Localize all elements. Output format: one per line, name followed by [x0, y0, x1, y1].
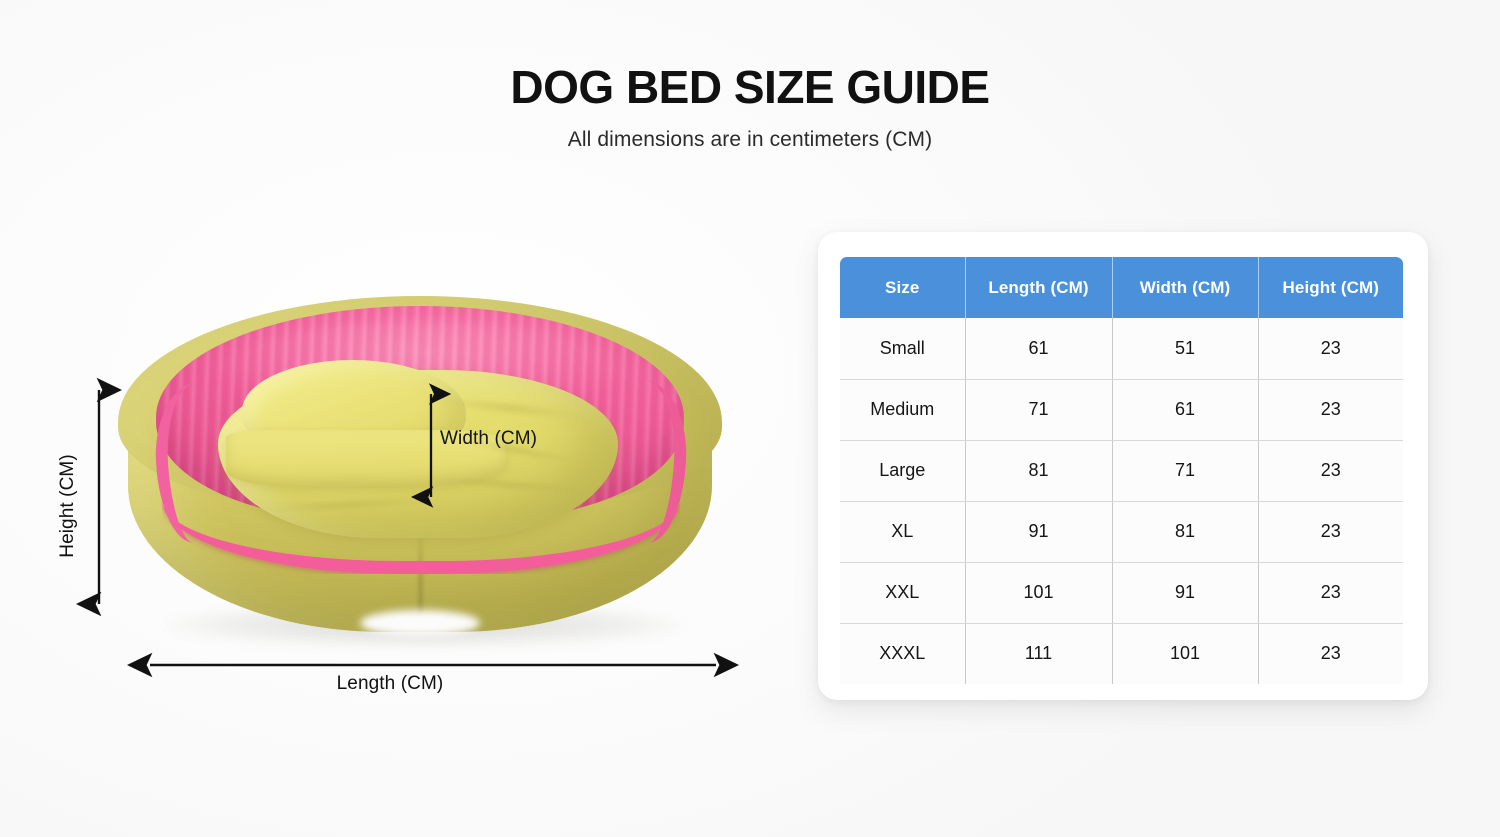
table-row: XL 91 81 23 — [840, 501, 1403, 562]
height-dimension-label: Height (CM) — [57, 454, 79, 558]
bed-bottom-notch — [360, 610, 480, 636]
page-header: DOG BED SIZE GUIDE All dimensions are in… — [0, 62, 1500, 152]
cell-width: 51 — [1112, 318, 1258, 379]
cell-width: 91 — [1112, 562, 1258, 623]
width-dimension-arrow — [424, 383, 438, 508]
cell-size: XXL — [840, 562, 965, 623]
column-header-length: Length (CM) — [965, 257, 1112, 318]
cell-height: 23 — [1258, 379, 1403, 440]
cell-height: 23 — [1258, 562, 1403, 623]
table-row: Large 81 71 23 — [840, 440, 1403, 501]
cell-height: 23 — [1258, 501, 1403, 562]
cell-length: 61 — [965, 318, 1112, 379]
table-header-row: Size Length (CM) Width (CM) Height (CM) — [840, 257, 1403, 318]
cell-size: Medium — [840, 379, 965, 440]
cushion-crease — [258, 496, 442, 513]
length-dimension-label: Length (CM) — [40, 673, 740, 695]
cell-size: XXXL — [840, 623, 965, 684]
column-header-height: Height (CM) — [1258, 257, 1403, 318]
table-row: Medium 71 61 23 — [840, 379, 1403, 440]
cell-width: 81 — [1112, 501, 1258, 562]
column-header-width: Width (CM) — [1112, 257, 1258, 318]
cell-size: Small — [840, 318, 965, 379]
cell-width: 71 — [1112, 440, 1258, 501]
size-table: Size Length (CM) Width (CM) Height (CM) … — [840, 257, 1403, 684]
size-table-body: Small 61 51 23 Medium 71 61 23 Large 81 … — [840, 318, 1403, 684]
cell-length: 111 — [965, 623, 1112, 684]
size-table-card: Size Length (CM) Width (CM) Height (CM) … — [818, 232, 1428, 700]
cell-width: 101 — [1112, 623, 1258, 684]
height-dimension-arrow — [92, 378, 106, 616]
cell-length: 71 — [965, 379, 1112, 440]
product-diagram: Height (CM) Length (CM) Width (CM) — [40, 250, 780, 720]
table-row: XXXL 111 101 23 — [840, 623, 1403, 684]
cell-width: 61 — [1112, 379, 1258, 440]
bed-cushion — [218, 370, 618, 538]
table-row: XXL 101 91 23 — [840, 562, 1403, 623]
dog-bed-illustration — [110, 292, 730, 642]
cell-height: 23 — [1258, 623, 1403, 684]
page-subtitle: All dimensions are in centimeters (CM) — [0, 128, 1500, 152]
cell-length: 91 — [965, 501, 1112, 562]
size-table-header: Size Length (CM) Width (CM) Height (CM) — [840, 257, 1403, 318]
length-dimension-arrow — [138, 658, 728, 672]
page-title: DOG BED SIZE GUIDE — [0, 62, 1500, 114]
cell-length: 81 — [965, 440, 1112, 501]
cell-height: 23 — [1258, 440, 1403, 501]
table-row: Small 61 51 23 — [840, 318, 1403, 379]
cell-length: 101 — [965, 562, 1112, 623]
column-header-size: Size — [840, 257, 965, 318]
width-dimension-label: Width (CM) — [440, 428, 537, 450]
cell-size: XL — [840, 501, 965, 562]
cell-size: Large — [840, 440, 965, 501]
cell-height: 23 — [1258, 318, 1403, 379]
